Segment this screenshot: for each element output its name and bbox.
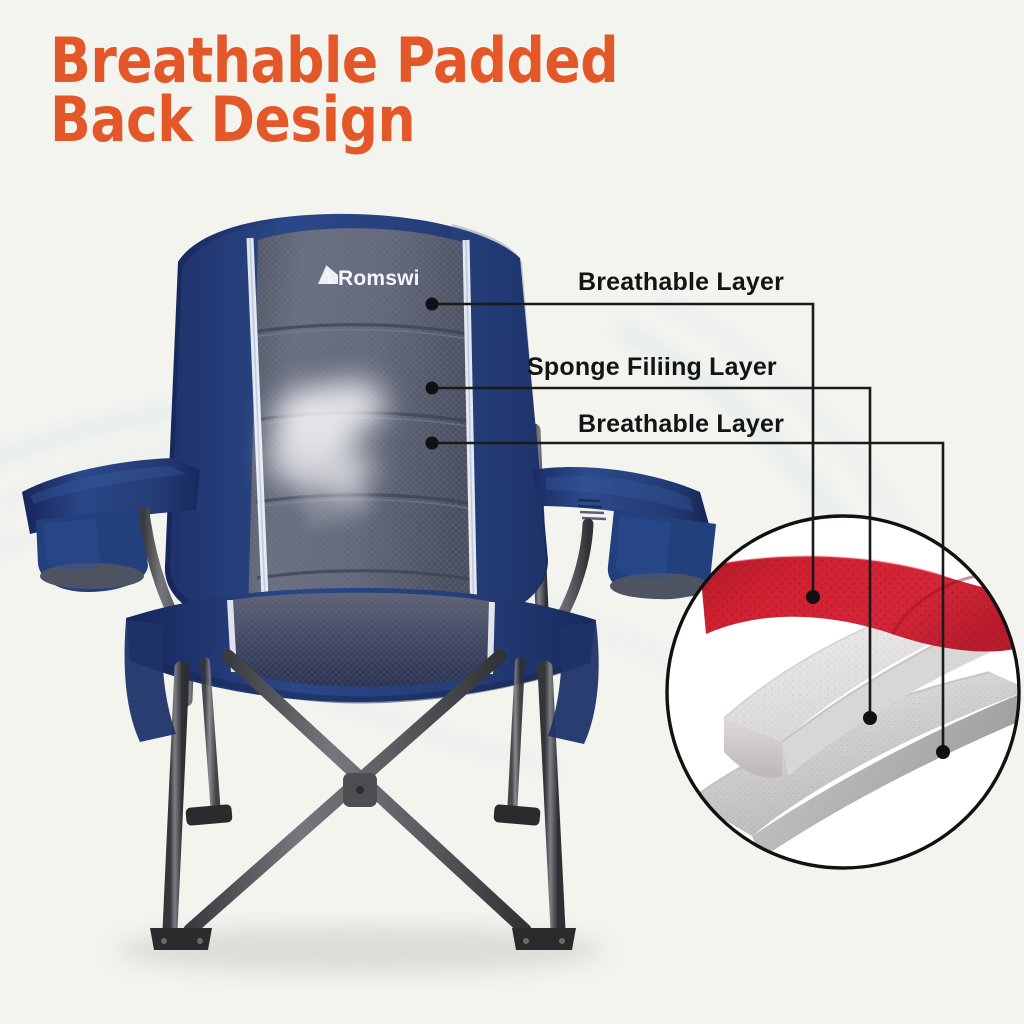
callout-dot-chair-3 bbox=[426, 437, 439, 450]
callout-label-breathable-layer-top: Breathable Layer bbox=[578, 268, 784, 297]
callout-label-breathable-layer-bottom: Breathable Layer bbox=[578, 410, 784, 439]
leg-bracket-left bbox=[185, 804, 232, 826]
callout-dot-inset-1 bbox=[806, 590, 820, 604]
infographic-canvas: Romswi bbox=[0, 0, 1024, 1024]
callout-dot-chair-2 bbox=[426, 382, 439, 395]
callout-label-sponge-filling-layer: Sponge Filiing Layer bbox=[527, 353, 777, 382]
product-chair: Romswi bbox=[22, 214, 716, 950]
callout-dot-chair-1 bbox=[426, 298, 439, 311]
detail-inset-circle bbox=[667, 516, 1024, 868]
page-headline: Breathable Padded Back Design bbox=[50, 32, 618, 150]
leg-bracket-right bbox=[493, 804, 540, 826]
chair-foot-front-right bbox=[512, 928, 576, 950]
svg-text:Romswi: Romswi bbox=[338, 267, 420, 290]
chair-foot-front-left bbox=[150, 928, 212, 950]
callout-dot-inset-2 bbox=[863, 711, 877, 725]
callout-dot-inset-3 bbox=[936, 745, 950, 759]
